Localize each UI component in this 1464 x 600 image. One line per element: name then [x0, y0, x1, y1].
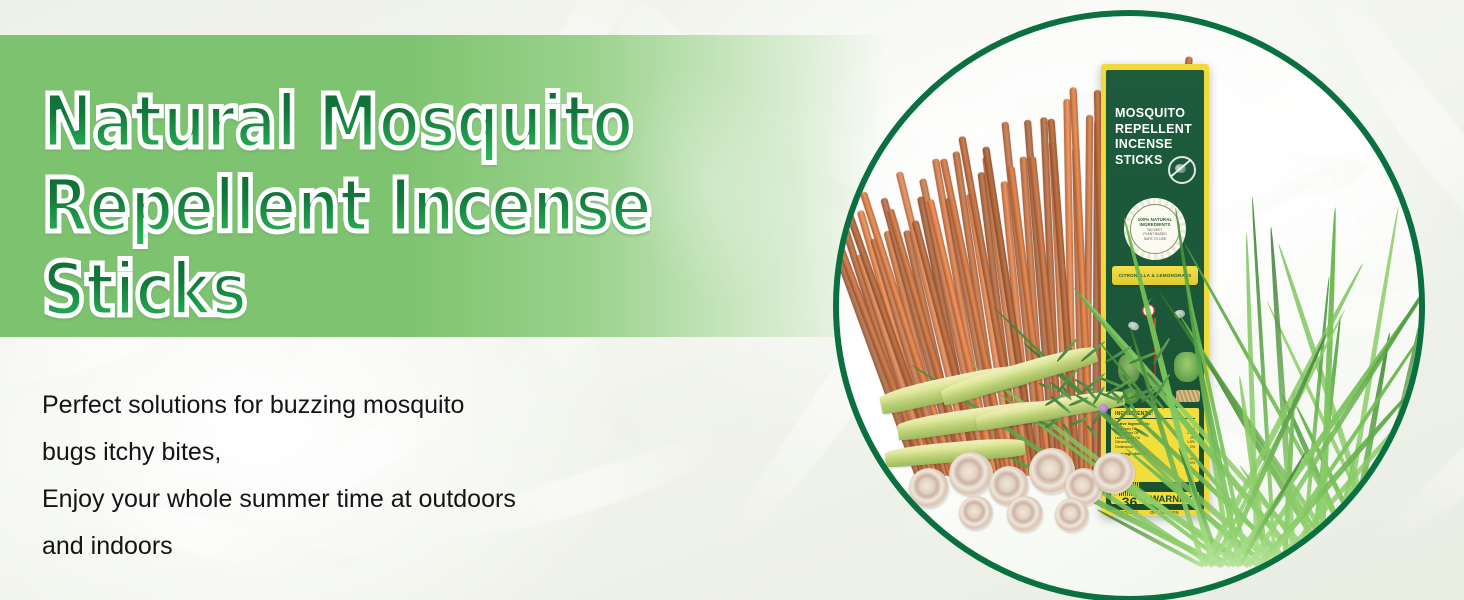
- rosemary-needle: [1116, 405, 1132, 423]
- lemongrass-arrangement: [879, 356, 1169, 556]
- subcopy-line-1: Perfect solutions for buzzing mosquito: [42, 382, 822, 429]
- headline-line-2: Repellent Incense: [42, 164, 872, 248]
- badge-inner: 100% NATURAL INGREDIENTS NO DEET PLANT B…: [1130, 204, 1180, 254]
- headline-line-1: Natural Mosquito: [42, 80, 872, 164]
- lemongrass-slice: [1055, 498, 1089, 532]
- rosemary-needle: [1086, 424, 1098, 438]
- subcopy-line-4: and indoors: [42, 523, 822, 570]
- product-photo-circle: MOSQUITO REPELLENT INCENSE STICKS 100% N…: [833, 10, 1425, 600]
- headline-line-3: Sticks: [42, 248, 872, 332]
- mosquito-icon-1: [1127, 320, 1140, 331]
- lemongrass-slice: [1093, 452, 1135, 494]
- page-title: Natural Mosquito Repellent Incense Stick…: [42, 80, 872, 332]
- lemongrass-slice: [949, 452, 993, 496]
- lemongrass-slice: [1007, 496, 1043, 532]
- lemongrass-slice: [909, 468, 949, 508]
- grass-cluster: [1189, 166, 1409, 566]
- subcopy-line-2: bugs itchy bites,: [42, 429, 822, 476]
- rosemary-needle: [1110, 426, 1124, 438]
- subcopy: Perfect solutions for buzzing mosquito b…: [42, 382, 822, 570]
- rosemary-sprig: [1029, 362, 1159, 452]
- product-banner: Natural Mosquito Repellent Incense Stick…: [0, 0, 1464, 600]
- rosemary-needle: [1134, 427, 1149, 437]
- rosemary-flower: [1099, 404, 1108, 413]
- rosemary-needle: [1140, 405, 1158, 420]
- lemongrass-slice: [959, 496, 993, 530]
- subcopy-line-3: Enjoy your whole summer time at outdoors: [42, 476, 822, 523]
